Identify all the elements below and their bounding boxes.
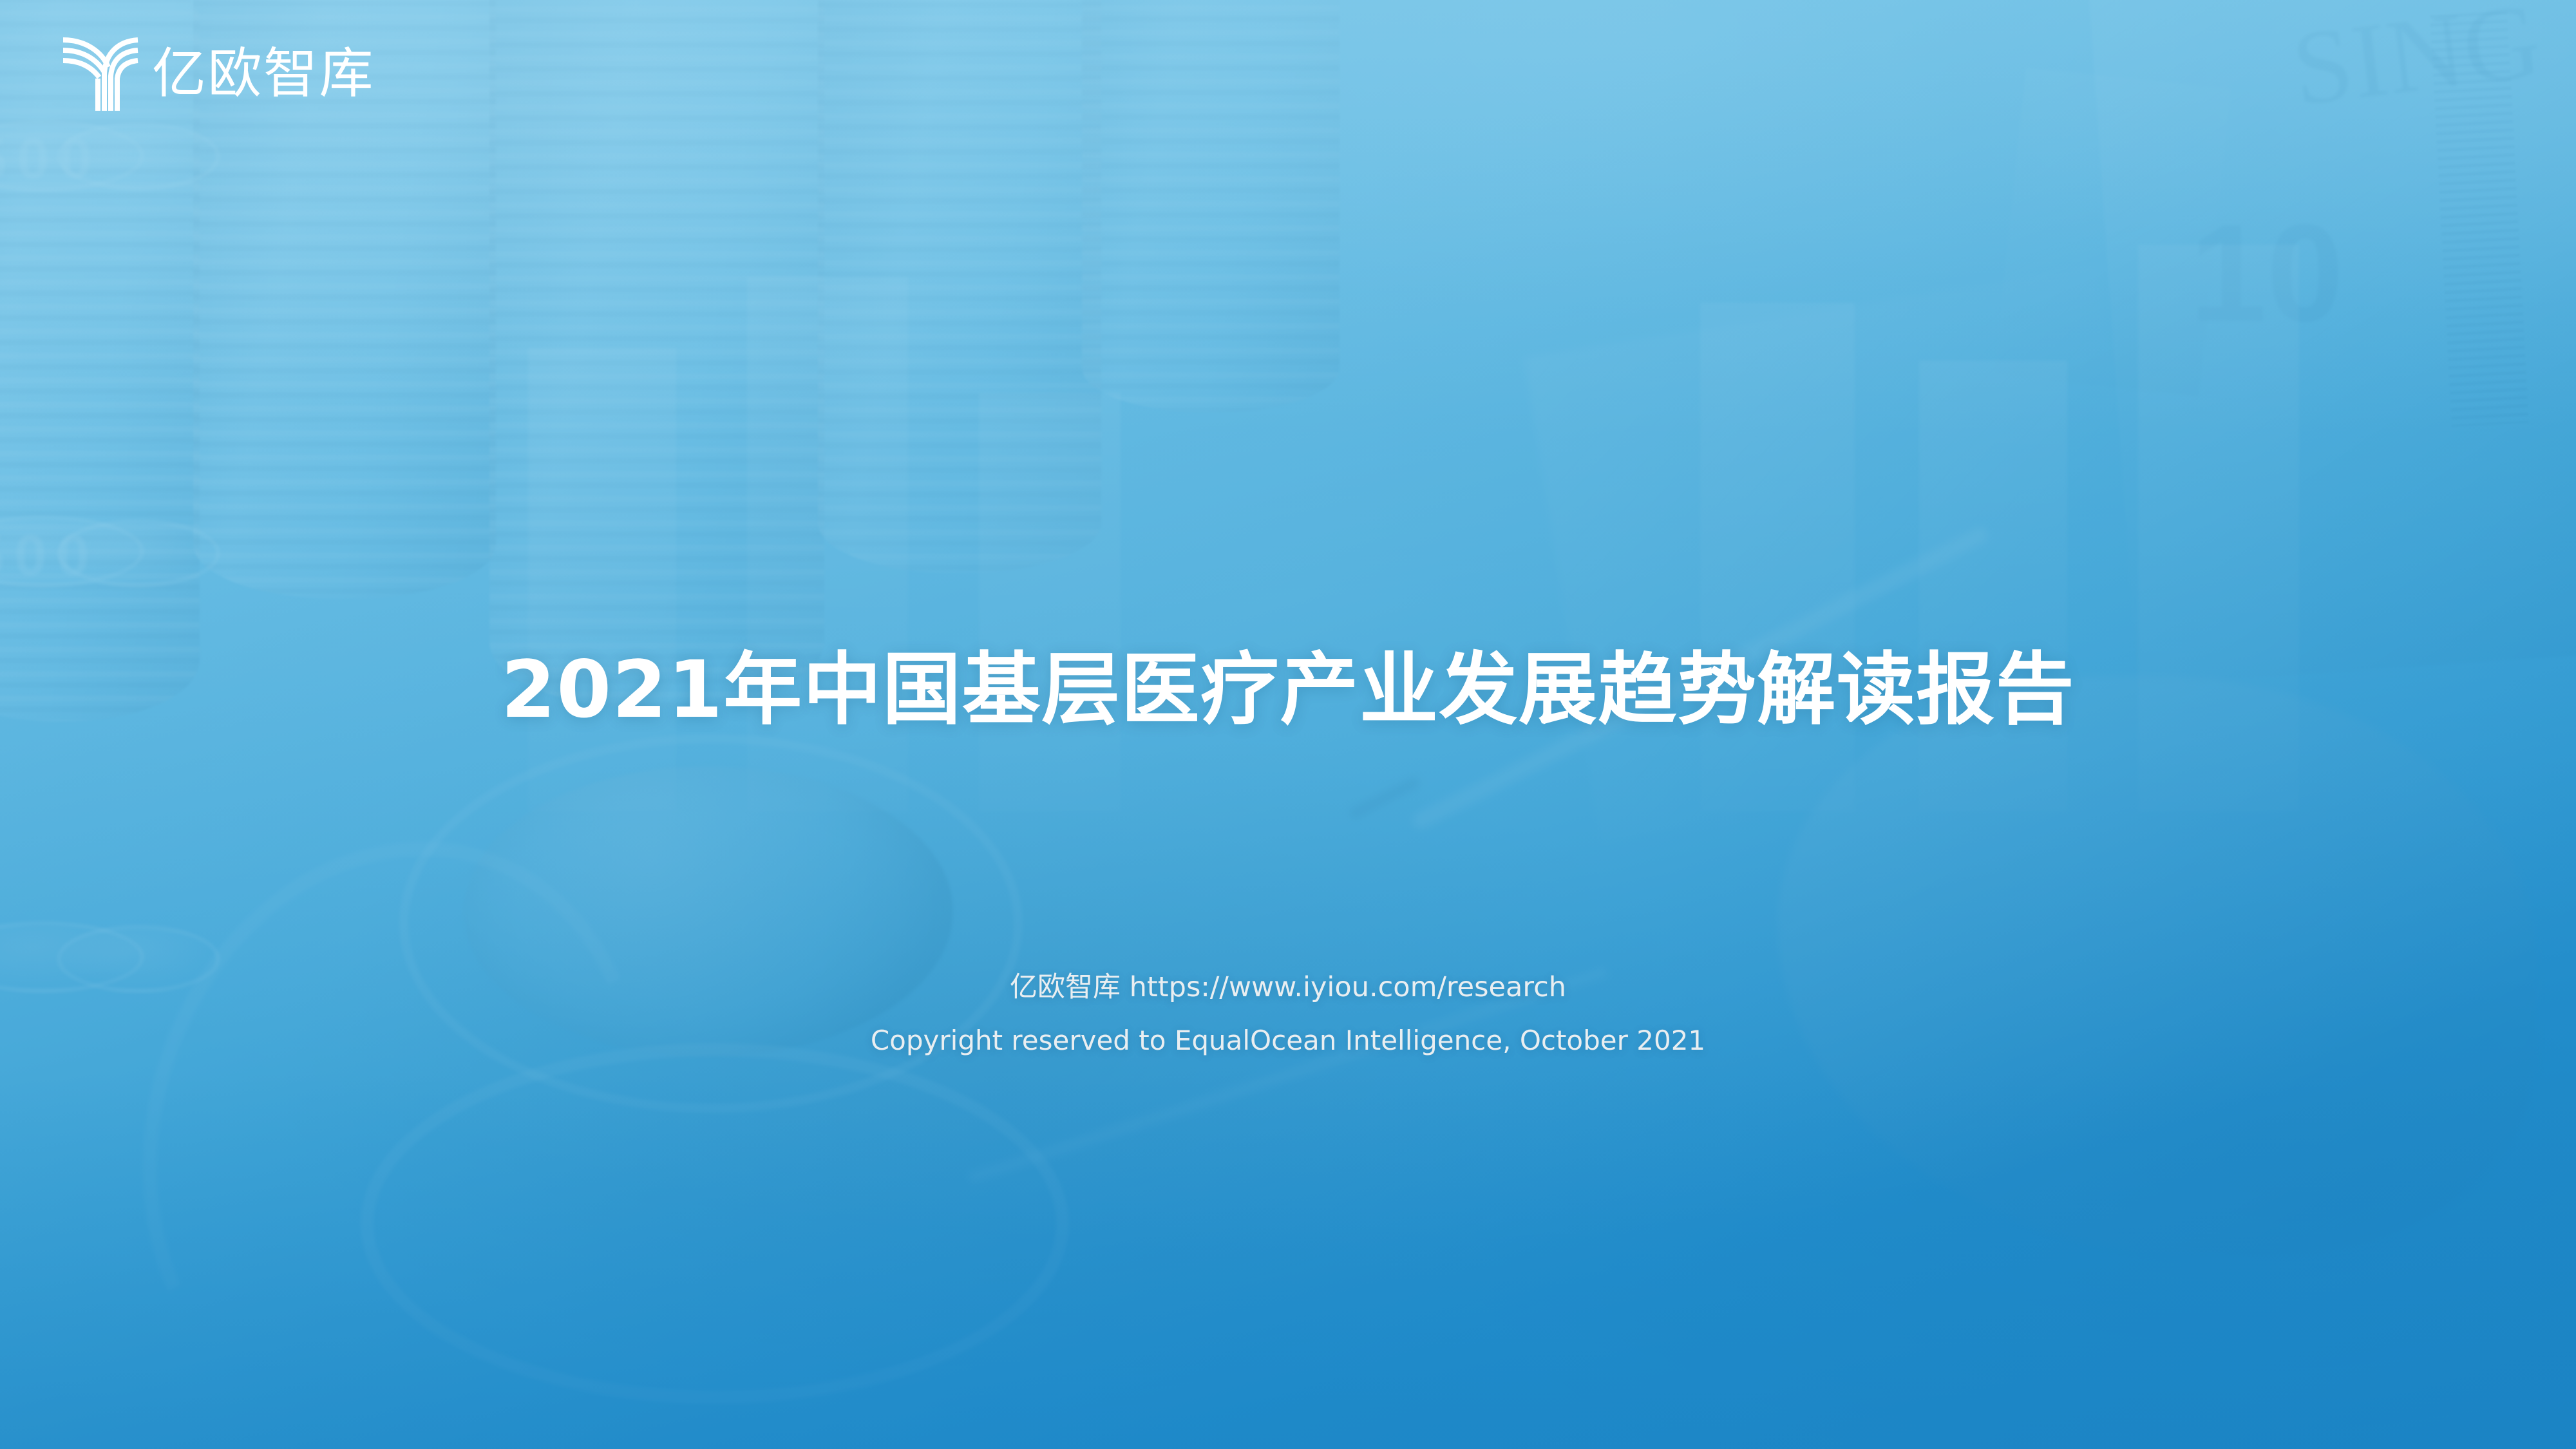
report-cover-slide: 500 500 SING 10: [0, 0, 2576, 1449]
yiou-wheat-mark-icon: [59, 33, 142, 113]
brand-logo-text: 亿欧智库: [152, 46, 375, 100]
page-title: 2021年中国基层医疗产业发展趋势解读报告: [0, 644, 2576, 737]
footer: 亿欧智库 https://www.iyiou.com/research Copy…: [0, 974, 2576, 1054]
brand-logo: 亿欧智库: [59, 33, 375, 113]
research-url: 亿欧智库 https://www.iyiou.com/research: [0, 974, 2576, 1001]
copyright-notice: Copyright reserved to EqualOcean Intelli…: [0, 1027, 2576, 1054]
slide-content: 亿欧智库 2021年中国基层医疗产业发展趋势解读报告 亿欧智库 https://…: [0, 0, 2576, 1449]
